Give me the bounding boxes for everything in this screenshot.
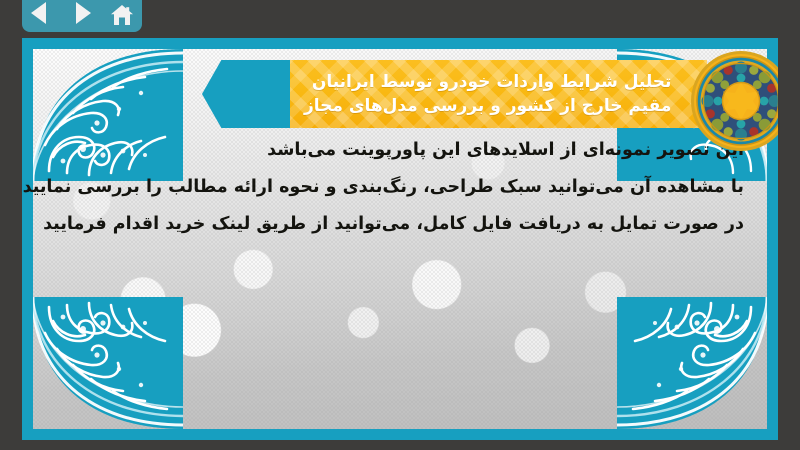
back-button[interactable] [29,2,55,28]
home-icon [109,2,135,28]
body-line-1: این تصویر نمونه‌ای از اسلایدهای این پاور… [124,132,744,169]
slide-body-text: این تصویر نمونه‌ای از اسلایدهای این پاور… [124,132,744,243]
slide-title-banner: تحلیل شرایط واردات خودرو توسط ایرانیان م… [202,60,707,128]
home-button[interactable] [109,2,135,28]
body-line-3: در صورت تمایل به دریافت فایل کامل، می‌تو… [124,206,744,243]
slide-title-line-2: مقیم خارج از کشور و بررسی مدل‌های مجاز [304,94,671,118]
slide-title-line-1: تحلیل شرایط واردات خودرو توسط ایرانیان [312,70,672,94]
banner-band: تحلیل شرایط واردات خودرو توسط ایرانیان م… [290,60,707,128]
forward-button[interactable] [69,2,95,28]
banner-arrow-shape [202,60,290,128]
navigation-bar [22,0,142,32]
triangle-left-icon [31,2,46,24]
slide: تحلیل شرایط واردات خودرو توسط ایرانیان م… [22,38,778,440]
body-line-2: با مشاهده آن می‌توانید سبک طراحی، رنگ‌بن… [124,169,744,206]
triangle-right-icon [76,2,91,24]
screen: تحلیل شرایط واردات خودرو توسط ایرانیان م… [0,0,800,450]
persian-shamseh-medallion [690,50,778,152]
